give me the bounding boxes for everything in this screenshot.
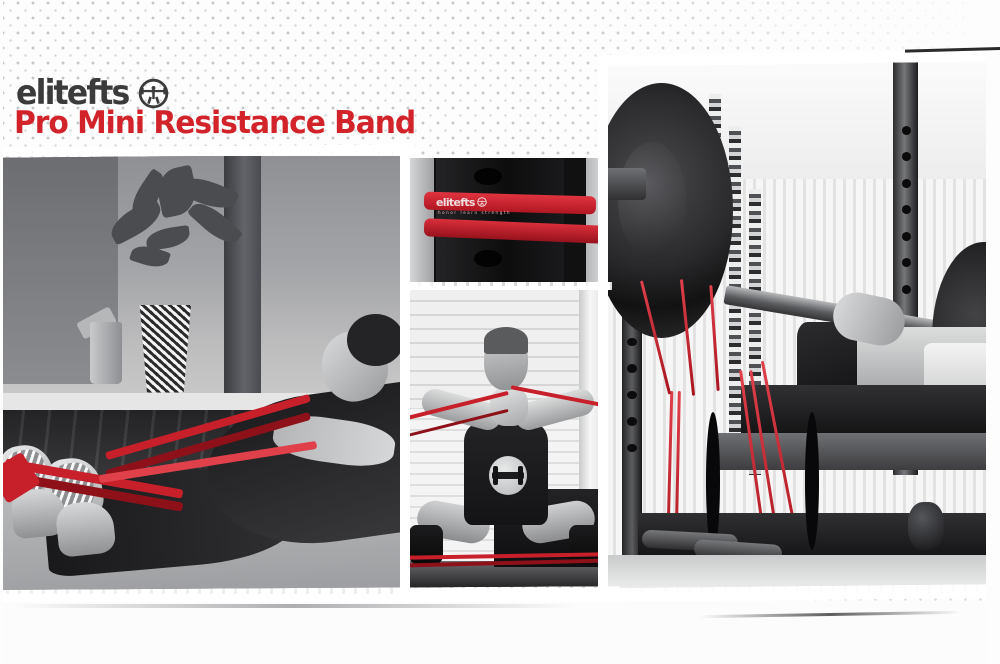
barbell-glyph	[492, 472, 523, 478]
rack-hole	[902, 285, 911, 294]
man-banded-squat-photo	[405, 288, 607, 588]
band-tagline-text: honor learn strength	[438, 210, 511, 215]
rack-base-hole	[706, 412, 720, 550]
band-logo-text: elitefts	[436, 197, 475, 208]
banner-canvas: elitefts honor learn strength	[0, 0, 1000, 664]
rack-hole	[902, 232, 911, 241]
banded-chain-bench-press-photo	[606, 62, 1000, 592]
bottom-streak	[14, 604, 574, 608]
lifter-circle-icon	[138, 78, 169, 109]
mans-hair	[484, 327, 528, 354]
rack-hole	[627, 364, 637, 372]
rack-hole	[902, 205, 911, 214]
product-band-on-rack-photo: elitefts honor learn strength	[408, 158, 608, 286]
page-title: Pro Mini Resistance Band	[14, 108, 415, 139]
woman-floor-band-press-photo	[0, 156, 404, 594]
rack-hole	[902, 179, 911, 188]
banner-header: elitefts Pro Mini Resistance Band	[0, 0, 520, 150]
rack-hole	[902, 152, 911, 161]
person-hair-bun	[347, 314, 404, 367]
watering-can	[90, 322, 123, 383]
rack-hole	[902, 126, 911, 135]
barbell-sleeve	[606, 168, 646, 200]
bench-pad	[741, 385, 1000, 438]
torn-paper-edge	[598, 56, 608, 601]
weight-plate-hub	[618, 142, 686, 259]
rack-hole	[627, 417, 637, 425]
right-white-margin	[986, 0, 1000, 664]
bottom-white-band	[0, 602, 1000, 664]
torn-paper-edge	[400, 150, 410, 600]
potted-plant	[102, 165, 249, 323]
band-logo: elitefts	[436, 196, 532, 208]
rack-hole	[627, 338, 637, 346]
barbell-circle-icon	[489, 456, 527, 495]
rack-hole	[474, 168, 502, 185]
rack-adjustment-knob	[908, 502, 944, 550]
rack-hole	[627, 391, 637, 399]
rack-hole	[627, 444, 637, 452]
rack-hole	[902, 258, 911, 267]
rack-hole	[474, 250, 502, 267]
lifter-circle-icon	[477, 197, 487, 207]
torn-paper-edge	[402, 282, 612, 290]
